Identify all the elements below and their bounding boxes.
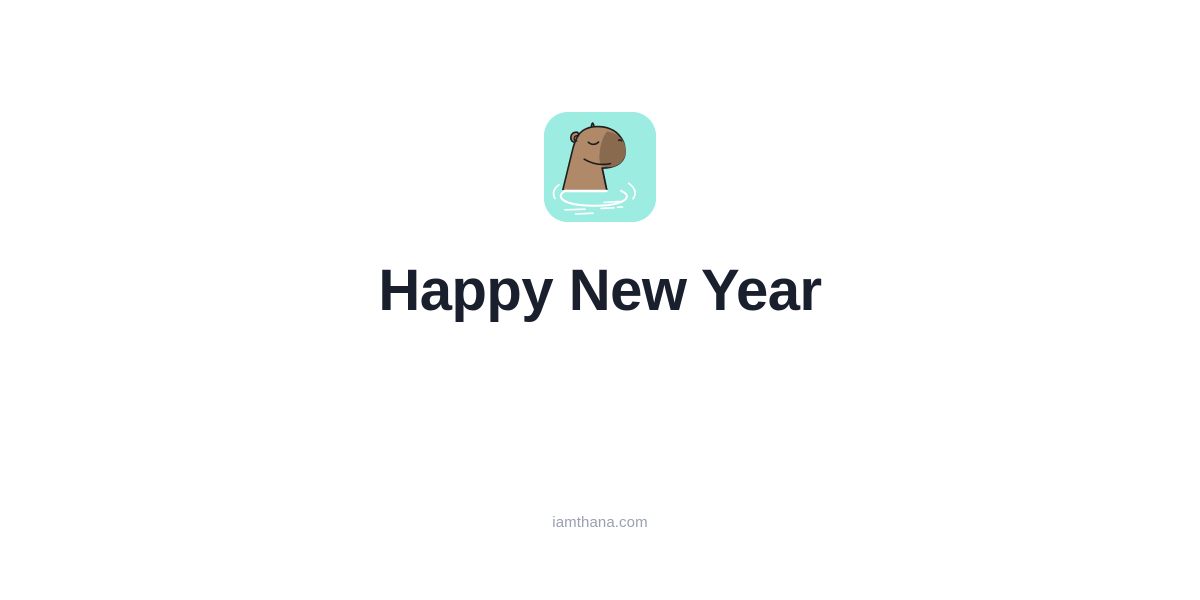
avatar — [544, 112, 656, 222]
greeting-page: Happy New Year iamthana.com — [0, 0, 1200, 600]
page-title-container: Happy New Year — [0, 258, 1200, 324]
capybara-in-water-icon — [544, 112, 656, 222]
page-title: Happy New Year — [0, 258, 1200, 324]
site-link[interactable]: iamthana.com — [552, 514, 647, 531]
footer: iamthana.com — [0, 512, 1200, 533]
avatar-container — [0, 112, 1200, 222]
